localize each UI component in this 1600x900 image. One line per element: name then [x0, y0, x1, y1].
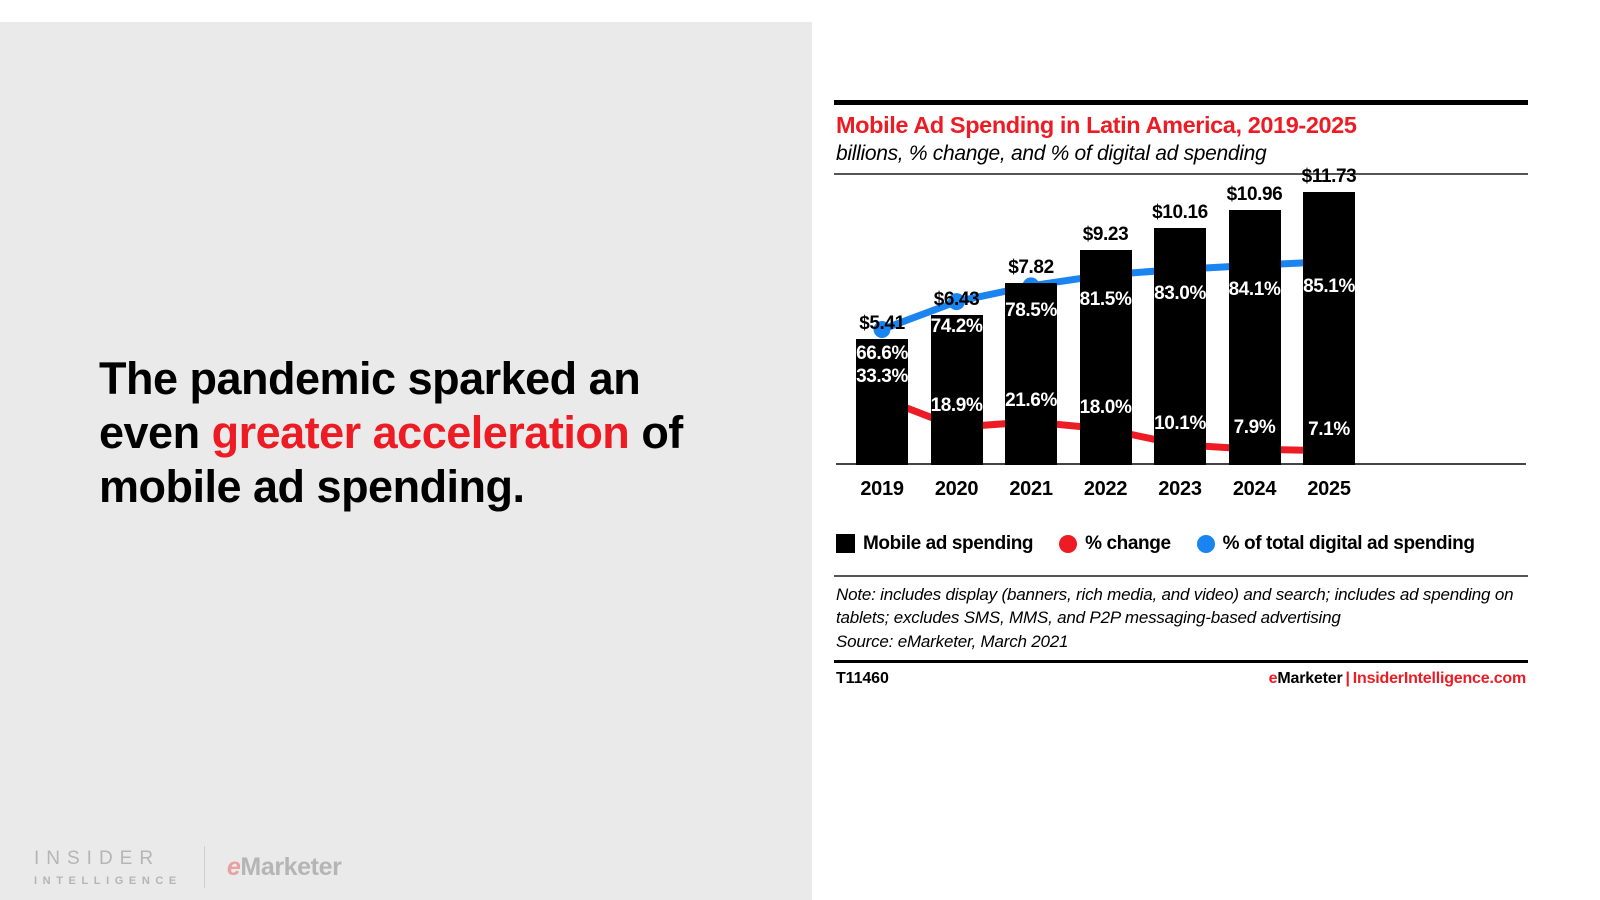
footer-brand: eMarketer|InsiderIntelligence.com: [1269, 670, 1526, 688]
insider-intelligence-logo: INSIDER INTELLIGENCE: [34, 848, 182, 887]
note-text: Note: includes display (banners, rich me…: [836, 583, 1528, 630]
pct-change-label-2025: 7.1%: [1279, 419, 1379, 441]
brand-insider-line1: INSIDER: [34, 848, 182, 870]
slide-canvas: The pandemic sparked an even greater acc…: [0, 0, 1600, 900]
bar-2020: [931, 315, 983, 465]
pct-change-label-2019: 33.3%: [832, 366, 932, 388]
legend-dot-icon: [1059, 535, 1077, 553]
bar-value-label-2022: $9.23: [1056, 224, 1156, 246]
legend-dot-icon: [1197, 535, 1215, 553]
pct-digital-label-2025: 85.1%: [1279, 276, 1379, 298]
brand-lockup: INSIDER INTELLIGENCE eMarketer: [34, 846, 341, 888]
legend-item-2[interactable]: % of total digital ad spending: [1197, 533, 1475, 555]
legend-label-1: % change: [1085, 533, 1171, 555]
legend-item-0[interactable]: Mobile ad spending: [836, 533, 1033, 555]
bar-value-label-2021: $7.82: [981, 257, 1081, 279]
footer-site-link[interactable]: InsiderIntelligence.com: [1353, 670, 1526, 687]
legend-label-2: % of total digital ad spending: [1223, 533, 1475, 555]
pct-digital-label-2019: 66.6%: [832, 343, 932, 365]
bar-value-label-2025: $11.73: [1279, 166, 1379, 188]
emarketer-logo-rest: Marketer: [240, 853, 341, 881]
legend-item-1[interactable]: % change: [1059, 533, 1171, 555]
chart-notes: Note: includes display (banners, rich me…: [834, 577, 1528, 660]
headline-accent: greater acceleration: [212, 407, 630, 458]
chart-panel: Mobile Ad Spending in Latin America, 201…: [834, 100, 1528, 688]
chart-id: T11460: [836, 670, 889, 688]
chart-legend: Mobile ad spending% change% of total dig…: [836, 533, 1475, 555]
headline-text: The pandemic sparked an even greater acc…: [99, 352, 739, 514]
legend-label-0: Mobile ad spending: [863, 533, 1033, 555]
emarketer-logo-e: e: [227, 853, 241, 881]
source-text: Source: eMarketer, March 2021: [836, 630, 1528, 653]
chart-subtitle: billions, % change, and % of digital ad …: [834, 141, 1528, 173]
footer-emarketer-rest: Marketer: [1277, 670, 1342, 687]
emarketer-logo: eMarketer: [227, 853, 342, 882]
footer-pipe: |: [1342, 670, 1352, 687]
legend-square-icon: [836, 534, 855, 553]
chart-footer: T11460 eMarketer|InsiderIntelligence.com: [834, 663, 1528, 688]
bar-2022: [1080, 250, 1132, 465]
left-headline-panel: The pandemic sparked an even greater acc…: [0, 22, 812, 900]
chart-title: Mobile Ad Spending in Latin America, 201…: [834, 105, 1528, 141]
brand-divider: [204, 846, 205, 888]
plot-area: $5.41$6.43$7.82$9.23$10.16$10.96$11.7366…: [834, 175, 1528, 575]
brand-insider-line2: INTELLIGENCE: [34, 875, 182, 887]
x-tick-2025: 2025: [1279, 478, 1379, 501]
